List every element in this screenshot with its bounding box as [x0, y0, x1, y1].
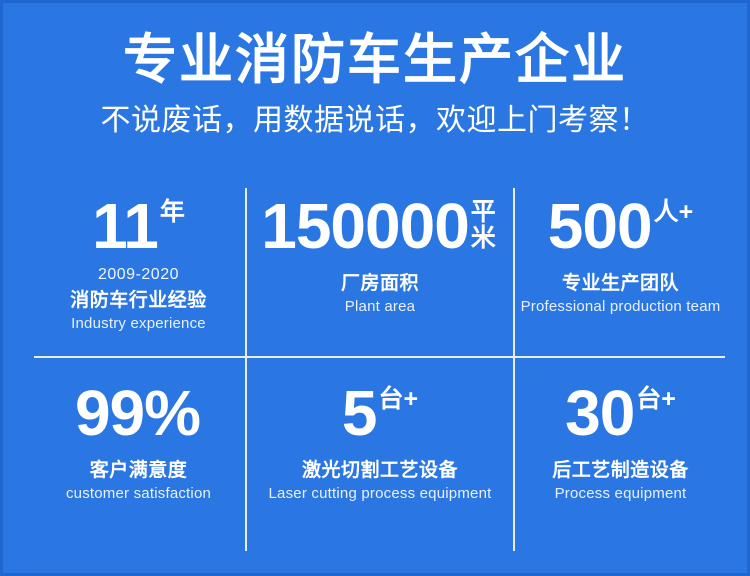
stat-unit: 年	[158, 196, 185, 226]
stat-number: 99%	[75, 383, 200, 444]
stat-value: 500 人+	[548, 196, 693, 257]
stat-label-cn: 消防车行业经验	[70, 290, 207, 312]
stat-unit: 台+	[634, 383, 676, 413]
stat-number: 11	[92, 196, 158, 257]
stat-cell-production-team: 500 人+ 专业生产团队 Professional production te…	[514, 188, 727, 357]
stat-unit: 人+	[652, 196, 694, 226]
page-title: 专业消防车生产企业	[3, 3, 747, 92]
stat-value: 99%	[75, 383, 202, 444]
stat-label-cn: 激光切割工艺设备	[302, 460, 458, 482]
stat-number: 30	[565, 383, 634, 444]
stat-label-cn: 后工艺制造设备	[552, 460, 689, 482]
promo-banner: 专业消防车生产企业 不说废话，用数据说话，欢迎上门考察！ 11 年 2009-2…	[0, 0, 750, 576]
stat-label-cn: 厂房面积	[341, 273, 419, 295]
banner-header: 专业消防车生产企业 不说废话，用数据说话，欢迎上门考察！	[3, 3, 747, 139]
stat-range: 2009-2020	[98, 266, 179, 284]
stat-number: 150000	[261, 196, 469, 257]
stat-value: 150000 平米	[261, 196, 499, 257]
stat-unit	[200, 383, 202, 387]
stat-number: 500	[548, 196, 652, 257]
stat-cell-customer-satisfaction: 99% 客户满意度 customer satisfaction	[31, 357, 246, 551]
stat-label-cn: 客户满意度	[90, 460, 188, 482]
page-subtitle: 不说废话，用数据说话，欢迎上门考察！	[3, 92, 747, 140]
grid-divider-horizontal	[34, 356, 725, 358]
grid-divider-vertical-left	[245, 188, 247, 551]
stat-cell-industry-experience: 11 年 2009-2020 消防车行业经验 Industry experien…	[31, 188, 246, 357]
stat-unit: 平米	[469, 196, 499, 251]
stat-number: 5	[342, 383, 377, 444]
stat-label-cn: 专业生产团队	[562, 273, 679, 295]
stat-value: 11 年	[92, 196, 185, 257]
grid-divider-vertical-right	[513, 188, 515, 551]
stats-grid: 11 年 2009-2020 消防车行业经验 Industry experien…	[31, 188, 727, 551]
stat-cell-process-equipment: 30 台+ 后工艺制造设备 Process equipment	[514, 357, 727, 551]
stat-label-en: Plant area	[345, 298, 415, 316]
stat-value: 5 台+	[342, 383, 418, 444]
stat-cell-laser-cutting-equipment: 5 台+ 激光切割工艺设备 Laser cutting process equi…	[246, 357, 514, 551]
stat-label-en: Laser cutting process equipment	[269, 485, 492, 503]
stat-unit: 台+	[376, 383, 418, 413]
stat-label-en: Process equipment	[555, 485, 687, 503]
stat-label-en: Industry experience	[71, 315, 206, 333]
stat-label-en: Professional production team	[521, 298, 721, 316]
stat-value: 30 台+	[565, 383, 676, 444]
stat-cell-plant-area: 150000 平米 厂房面积 Plant area	[246, 188, 514, 357]
stat-label-en: customer satisfaction	[66, 485, 211, 503]
